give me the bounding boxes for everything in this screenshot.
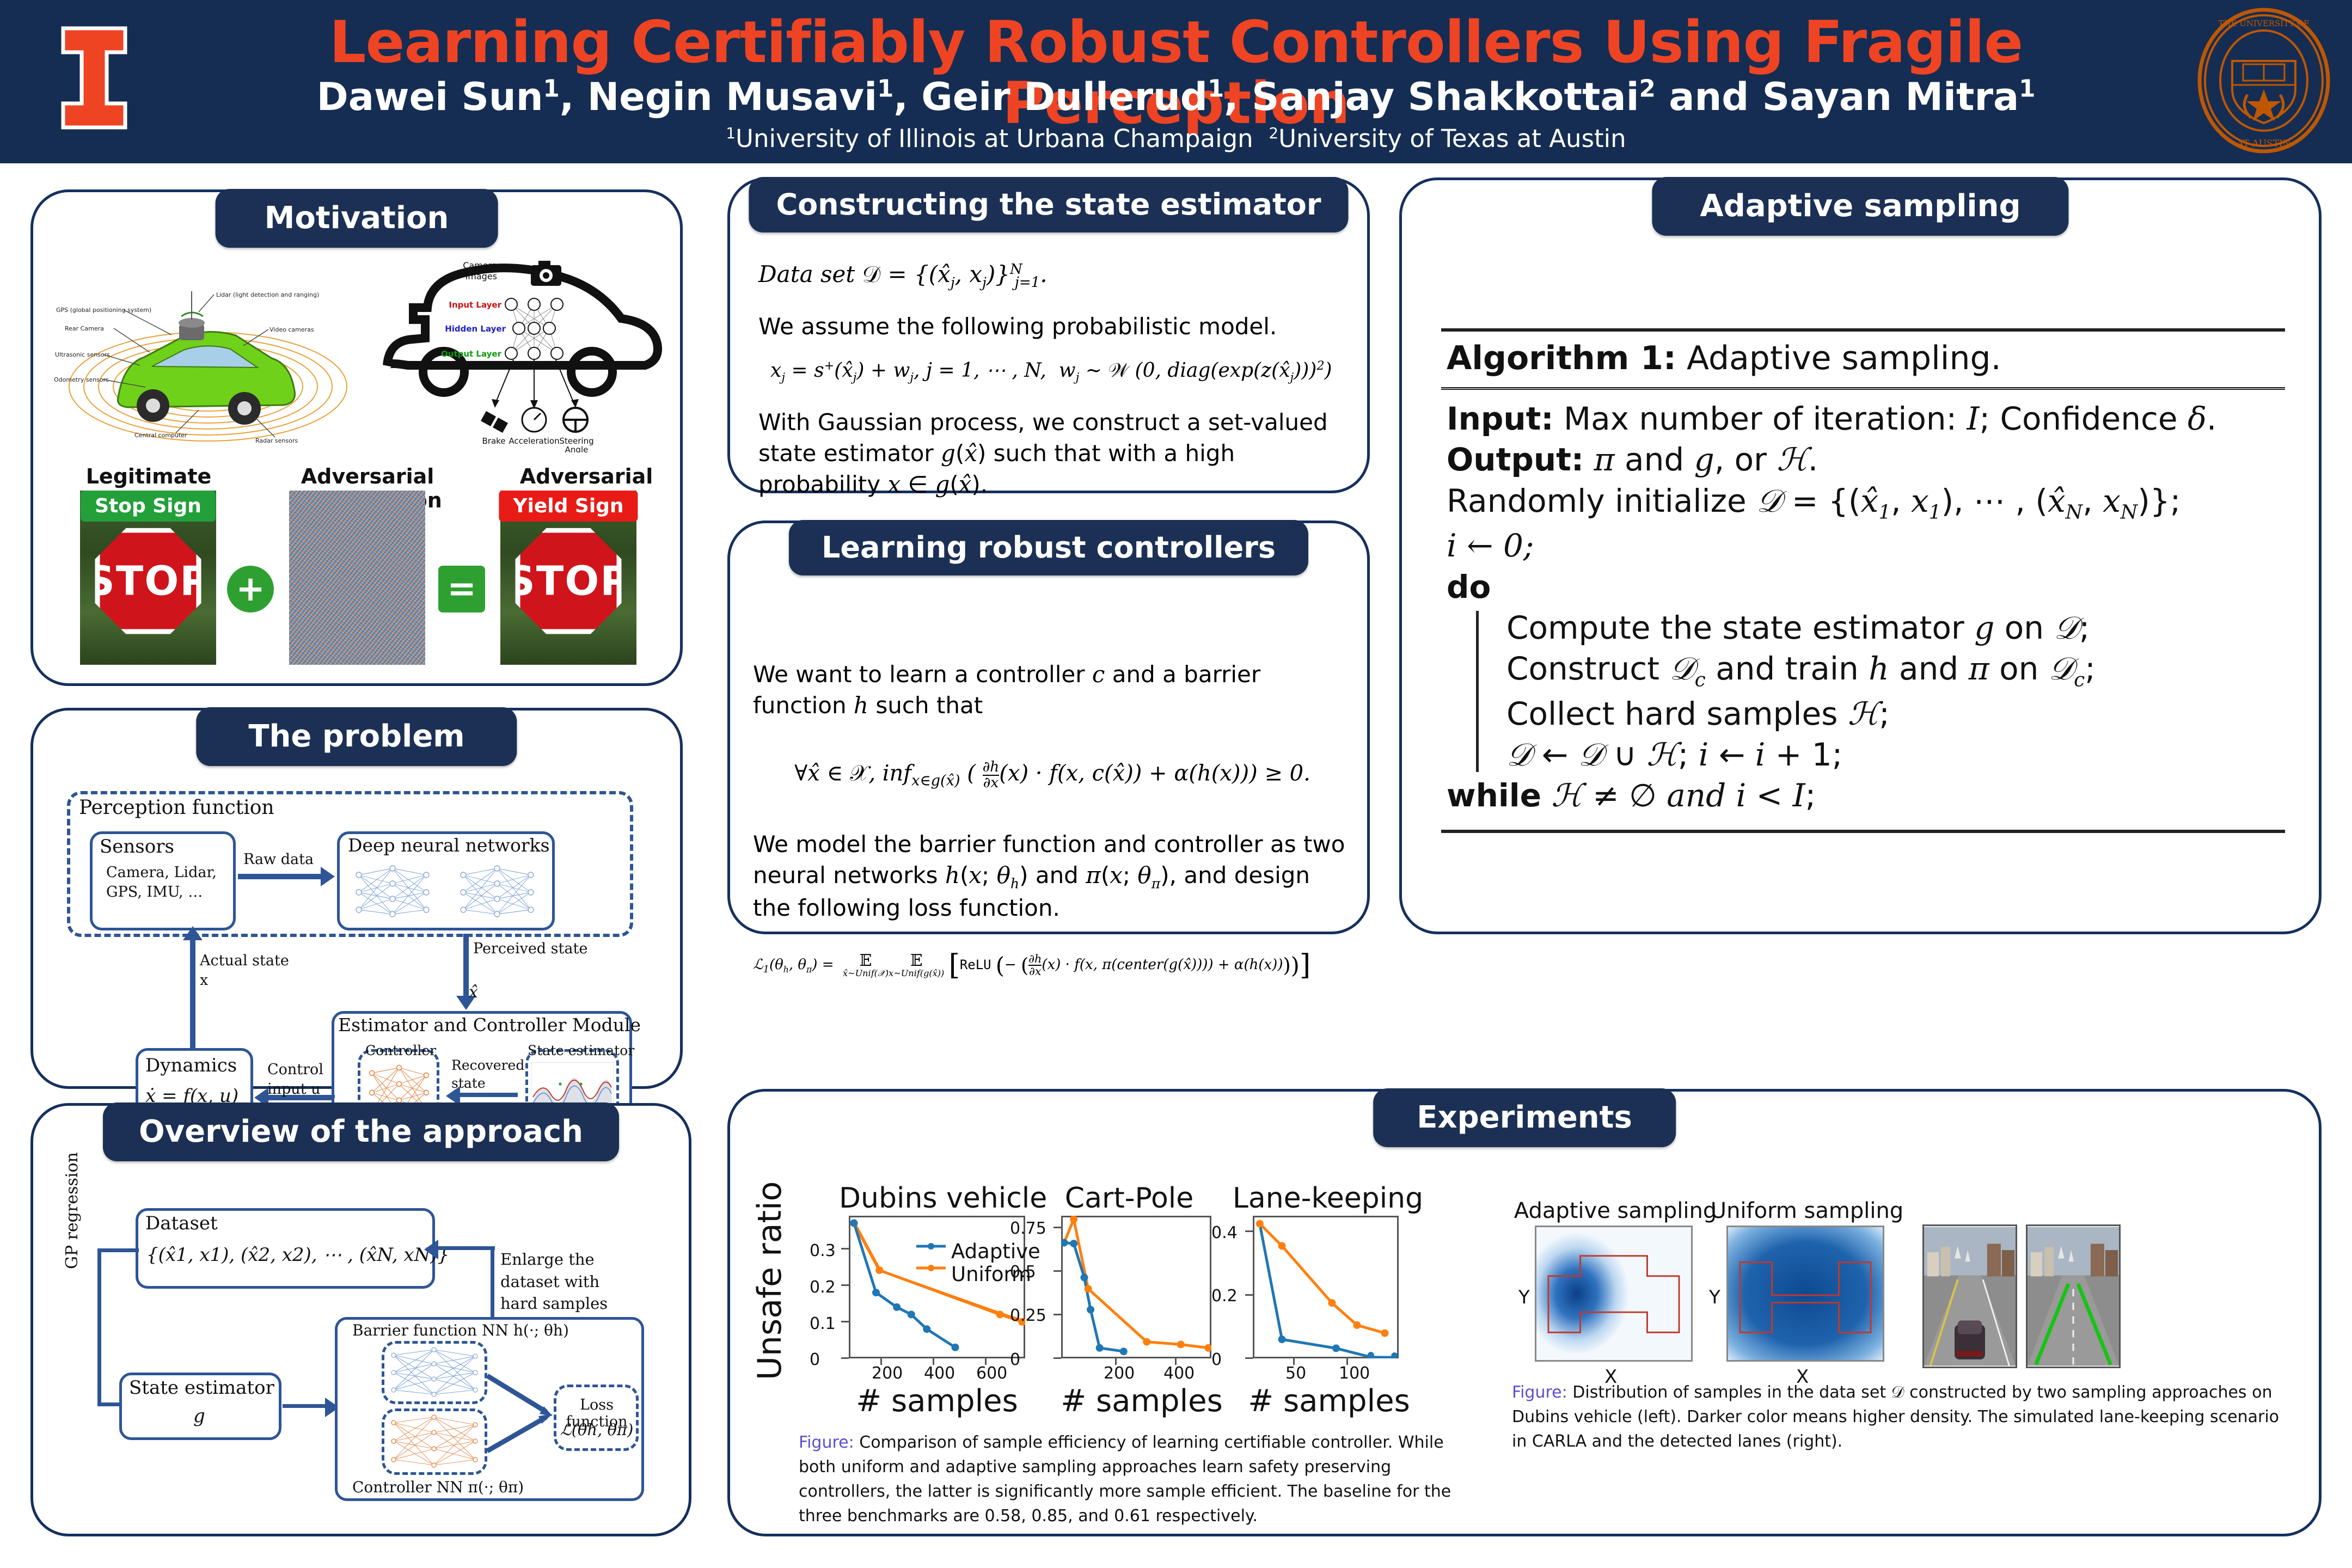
algorithm-step-4: 𝒟 ← 𝒟 ∪ ℋ; i ← i + 1; — [1441, 734, 2285, 775]
figure-caption-2: Figure: Distribution of samples in the d… — [1512, 1380, 2290, 1454]
label-state-estimator-symbol: g — [193, 1405, 205, 1427]
svg-text:Camera: Camera — [463, 260, 497, 271]
dnn-graphic — [346, 860, 547, 926]
adversarial-sample-image: STOP Yield Sign — [500, 491, 636, 665]
sensor-car-illustration: Lidar (light detection and ranging) GPS … — [53, 269, 363, 449]
estimator-line-2: We assume the following probabilistic mo… — [758, 311, 1346, 342]
xtick-dubins-1: 400 — [924, 1364, 955, 1383]
label-sensors-title: Sensors — [100, 836, 174, 857]
algorithm-step-1: Compute the state estimator g on 𝒟; — [1441, 608, 2285, 648]
svg-text:Hidden Layer: Hidden Layer — [445, 324, 506, 334]
heatmap-adaptive-sampling — [1535, 1226, 1693, 1362]
svg-text:Video cameras: Video cameras — [269, 326, 314, 333]
arrow-perceived-state — [463, 934, 469, 998]
panel-constructing-estimator: Constructing the state estimator Data se… — [727, 177, 1370, 493]
poster-root: THE UNIVERSITY OF AT AUSTIN Learning Cer… — [0, 0, 2352, 1568]
label-perception-function: Perception function — [79, 797, 274, 819]
label-recovered-state: Recovered state — [451, 1057, 522, 1092]
arrow-gp-side — [97, 1248, 101, 1406]
xtick-lanekeeping-1: 100 — [1339, 1364, 1370, 1383]
panel-learning-controllers: Learning robust controllers We want to l… — [727, 520, 1370, 934]
xtick-dubins-2: 600 — [976, 1364, 1007, 1383]
legitimate-sample-image: STOP Stop Sign — [80, 491, 216, 665]
ytick-lanekeeping-2: 0.4 — [1211, 1223, 1238, 1242]
arrow-gp-top — [97, 1248, 139, 1252]
xtick-lanekeeping-0: 50 — [1285, 1364, 1306, 1383]
ytick-dubins-3: 0.3 — [810, 1241, 836, 1260]
label-enlarge-dataset: Enlarge the dataset with hard samples — [500, 1248, 630, 1315]
panel-title-overview: Overview of the approach — [103, 1102, 619, 1161]
poster-header: THE UNIVERSITY OF AT AUSTIN Learning Cer… — [0, 0, 2352, 163]
svg-text:Rear Camera: Rear Camera — [65, 325, 104, 332]
label-control-input: Control input u — [267, 1060, 341, 1100]
controllers-line-1: We want to learn a controller c and a ba… — [753, 659, 1352, 721]
controllers-equation-1: ∀x̂ ∈ 𝒳, infx∈g(x̂) ( ∂h∂x(x) · f(x, c(x… — [753, 760, 1352, 790]
algorithm-output-line: Output: π and g, or ℋ. — [1441, 439, 2285, 480]
ytick-dubins-1: 0.1 — [810, 1314, 836, 1333]
algorithm-step-2: Construct 𝒟c and train h and π on 𝒟c; — [1441, 648, 2285, 693]
chart-xlabel-lanekeeping: # samples — [1220, 1383, 1438, 1419]
label-barrier-nn: Barrier function NN h(·; θh) — [352, 1321, 569, 1339]
arrow-recovered-state — [459, 1093, 518, 1097]
estimator-dataset-line: Data set 𝒟 = {(x̂j, xj)}Nj=1. — [758, 261, 1346, 291]
label-dataset-title: Dataset — [145, 1212, 218, 1234]
chart-title-cartpole: Cart-Pole — [1046, 1182, 1212, 1215]
chart-xlabel-dubins: # samples — [828, 1383, 1046, 1419]
arrowhead-actual-state — [183, 926, 203, 940]
chart-xlabel-cartpole: # samples — [1033, 1383, 1251, 1419]
arrowhead-raw-data — [321, 867, 335, 886]
label-loss-symbol: ℒ(θh, θπ) — [558, 1420, 635, 1439]
svg-text:Ultrasonic sensors: Ultrasonic sensors — [55, 351, 110, 358]
barrier-nn-graphic — [386, 1345, 483, 1400]
panel-motivation: Motivation Lidar (light detection and ra… — [30, 189, 683, 686]
svg-text:Output Layer: Output Layer — [441, 349, 502, 359]
stop-sign-text: STOP — [86, 558, 211, 604]
svg-text:Input Layer: Input Layer — [449, 300, 501, 310]
label-actual-state: Actual state x — [200, 951, 292, 991]
controller-nn-graphic-2 — [386, 1413, 483, 1471]
svg-text:Central computer: Central computer — [134, 432, 187, 439]
figure-caption-1-text: Comparison of sample efficiency of learn… — [799, 1433, 1451, 1526]
arrow-enlarge-top — [435, 1246, 495, 1250]
figure-caption-1-lead: Figure: — [799, 1433, 854, 1452]
svg-text:Odometry sensors: Odometry sensors — [54, 376, 109, 383]
xtick-cartpole-0: 200 — [1104, 1364, 1135, 1383]
svg-text:GPS (global positioning system: GPS (global positioning system) — [56, 307, 151, 314]
chart-series-cartpole — [1061, 1216, 1211, 1358]
heatmap-uniform-sampling — [1726, 1226, 1884, 1362]
label-perceived-state-symbol: x̂ — [469, 983, 478, 1002]
arrow-estimator-to-nn — [283, 1404, 326, 1408]
equals-operator-badge: = — [438, 566, 485, 612]
label-dnn-title: Deep neural networks — [348, 835, 550, 856]
carla-detected-lanes-image — [2026, 1224, 2121, 1368]
arrow-raw-data — [238, 874, 322, 879]
svg-text:Angle: Angle — [565, 445, 589, 452]
ytick-cartpole-1: 0.25 — [1010, 1306, 1046, 1325]
algorithm-step-3: Collect hard samples ℋ; — [1441, 694, 2285, 734]
panel-title-constructing-estimator: Constructing the state estimator — [749, 177, 1348, 232]
chart-title-dubins: Dubins vehicle — [839, 1182, 1024, 1215]
algorithm-header: Algorithm 1: Adaptive sampling. — [1441, 332, 2285, 390]
controllers-equation-2: ℒ1(θh, θπ) = 𝔼x̂~Unif(𝒳)𝔼x~Unif(g(x̂)) [… — [753, 949, 1352, 982]
heatmap-title-adaptive: Adaptive sampling — [1512, 1198, 1719, 1223]
panel-overview: Overview of the approach Dataset {(x̂1, … — [30, 1103, 691, 1536]
arrow-enlarge-side — [491, 1246, 494, 1319]
ytick-dubins-2: 0.2 — [810, 1278, 836, 1297]
adversarial-perturbation-image — [289, 491, 425, 665]
label-raw-data: Raw data — [243, 851, 314, 868]
figure-caption-2-lead: Figure: — [1512, 1383, 1567, 1402]
label-dataset-equation: {(x̂1, x1), (x̂2, x2), ⋯ , (x̂N, xN)} — [146, 1244, 449, 1266]
svg-text:AT AUSTIN: AT AUSTIN — [2236, 138, 2290, 149]
arrowhead-enlarge — [424, 1240, 438, 1259]
figure-caption-2-text: Distribution of samples in the data set … — [1512, 1383, 2279, 1451]
svg-text:Lidar (light detection and ran: Lidar (light detection and ranging) — [216, 291, 319, 298]
panel-title-adaptive-sampling: Adaptive sampling — [1652, 177, 2068, 236]
algorithm-counter-line: i ← 0; — [1441, 525, 2285, 566]
panel-title-learning-controllers: Learning robust controllers — [789, 520, 1308, 575]
algorithm-input-line: Input: Max number of iteration: I; Confi… — [1441, 399, 2285, 439]
algorithm-header-rest: Adaptive sampling. — [1676, 339, 2001, 377]
stop-sign-text-2: STOP — [506, 558, 631, 604]
panel-adaptive-sampling: Adaptive sampling Algorithm 1: Adaptive … — [1399, 177, 2322, 934]
affiliation-list: 1University of Illinois at Urbana Champa… — [174, 124, 2178, 153]
ytick-lanekeeping-0: 0 — [1211, 1350, 1222, 1369]
charts-ylabel: Unsafe ratio — [751, 1200, 789, 1380]
svg-text:THE UNIVERSITY OF: THE UNIVERSITY OF — [2218, 19, 2309, 28]
chart-series-lanekeeping — [1253, 1216, 1399, 1358]
label-state-estimator: State estimator — [528, 1043, 634, 1058]
controllers-line-2: We model the barrier function and contro… — [753, 829, 1352, 924]
algorithm-while-line: while ℋ ≠ ∅ and i < I; — [1441, 775, 2285, 816]
carla-driving-scene-image — [1922, 1224, 2017, 1368]
legend-label-adaptive-1: Adaptive — [951, 1240, 1040, 1263]
xtick-dubins-0: 200 — [872, 1364, 903, 1383]
svg-text:Radar sensors: Radar sensors — [255, 437, 298, 444]
algorithm-init-line: Randomly initialize 𝒟 = {(x̂1, x1), ⋯ , … — [1441, 481, 2285, 525]
heatmap-ylabel-adaptive: Y — [1518, 1287, 1530, 1308]
ytick-cartpole-2: 0.5 — [1010, 1263, 1036, 1282]
label-sensors-list: Camera, Lidar, GPS, IMU, … — [106, 863, 231, 903]
estimator-equation-1: xj = s+(x̂j) + wj, j = 1, ⋯ , N, wj ~ 𝒲 … — [770, 359, 1346, 384]
label-dynamics-title: Dynamics — [145, 1055, 237, 1076]
label-gp-regression: GP regression — [63, 1152, 82, 1269]
arrows-to-loss — [485, 1362, 561, 1465]
ytick-dubins-0: 0 — [810, 1350, 820, 1369]
panel-experiments: Experiments Unsafe ratio Dubins vehicle — [727, 1089, 2322, 1536]
badge-yield-sign: Yield Sign — [499, 491, 638, 522]
svg-text:Brake: Brake — [482, 436, 505, 446]
label-controller: Controller — [365, 1043, 436, 1058]
plus-operator-badge: + — [227, 566, 274, 612]
ytick-cartpole-0: 0 — [1010, 1350, 1020, 1369]
algorithm-header-bold: Algorithm 1: — [1447, 339, 1676, 377]
label-state-estimator-title: State estimator — [129, 1377, 274, 1399]
svg-text:Acceleration: Acceleration — [509, 436, 559, 446]
xtick-cartpole-1: 400 — [1163, 1364, 1195, 1383]
illinois-block-i-logo — [61, 26, 127, 130]
label-controller-nn: Controller NN π(·; θπ) — [352, 1478, 524, 1496]
heatmap-ylabel-uniform: Y — [1709, 1287, 1720, 1308]
arrow-module-joint — [332, 1095, 335, 1098]
algorithm-box: Algorithm 1: Adaptive sampling. Input: M… — [1441, 328, 2285, 833]
svg-text:Images: Images — [465, 271, 497, 281]
label-module-title: Estimator and Controller Module — [338, 1014, 641, 1036]
heatmap-title-uniform: Uniform sampling — [1705, 1198, 1909, 1223]
panel-title-experiments: Experiments — [1373, 1088, 1676, 1147]
ytick-lanekeeping-1: 0.2 — [1211, 1287, 1238, 1306]
estimator-line-3: With Gaussian process, we construct a se… — [758, 407, 1346, 500]
ut-austin-seal-logo: THE UNIVERSITY OF AT AUSTIN — [2196, 8, 2331, 154]
author-list: Dawei Sun1, Negin Musavi1, Geir Dullerud… — [174, 76, 2178, 118]
chart-title-lanekeeping: Lane-keeping — [1230, 1182, 1426, 1215]
neural-network-car-illustration: Camera Images Input Layer Hidden Lay — [371, 256, 669, 452]
badge-stop-sign: Stop Sign — [81, 491, 216, 522]
arrow-actual-state — [190, 939, 195, 1048]
panel-title-motivation: Motivation — [216, 189, 498, 248]
ytick-cartpole-3: 0.75 — [1010, 1219, 1046, 1238]
label-perceived-state: Perceived state — [473, 939, 587, 958]
panel-title-the-problem: The problem — [196, 707, 517, 766]
figure-caption-1: Figure: Comparison of sample efficiency … — [799, 1430, 1468, 1528]
algorithm-do-keyword: do — [1441, 567, 2285, 608]
panel-the-problem: The problem Perception function Sensors … — [30, 708, 683, 1089]
